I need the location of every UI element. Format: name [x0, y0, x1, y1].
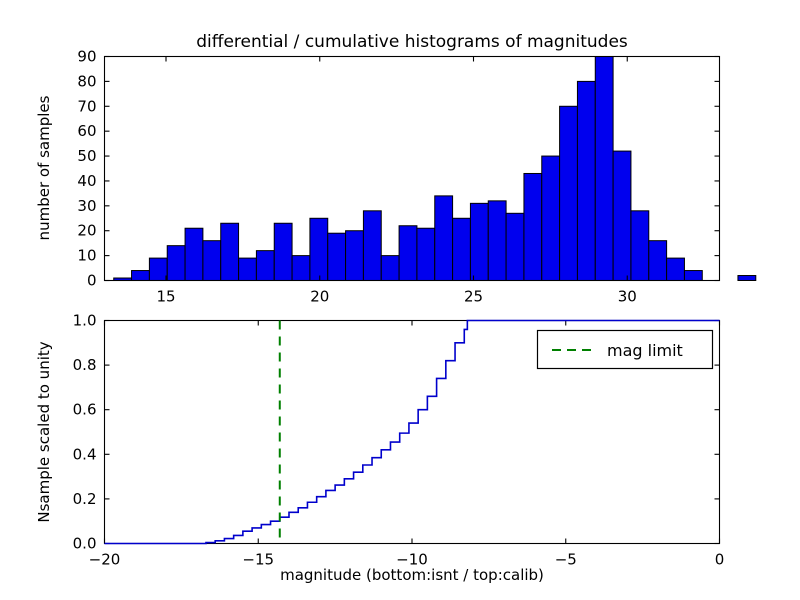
histogram-bar: [524, 173, 542, 280]
histogram-bar: [239, 258, 257, 280]
bottom-y-tick-label: 0.6: [73, 401, 97, 419]
page-title: differential / cumulative histograms of …: [196, 32, 628, 52]
top-x-tick-label: 25: [464, 288, 483, 306]
top-y-tick-label: 40: [77, 172, 96, 190]
histogram-bar: [684, 271, 702, 281]
top-x-tick-label: 30: [618, 288, 637, 306]
histogram-bar: [417, 228, 435, 280]
top-y-tick-label: 50: [77, 147, 96, 165]
histogram-bar: [560, 106, 578, 280]
histogram-bar: [435, 196, 453, 281]
histogram-bar: [256, 251, 274, 281]
histogram-bar: [167, 246, 185, 281]
histogram-bars: [114, 57, 756, 281]
histogram-bar: [613, 151, 631, 280]
bottom-y-tick-label: 0.8: [73, 356, 97, 374]
histogram-bar: [506, 213, 524, 280]
legend[interactable]: mag limit: [538, 331, 713, 369]
legend-entry-label: mag limit: [607, 341, 683, 360]
histogram-bar: [649, 241, 667, 281]
bottom-x-tick-label: 0: [715, 551, 725, 569]
histogram-bar: [203, 241, 221, 281]
histogram-bar: [346, 231, 364, 281]
top-y-tick-label: 0: [87, 272, 97, 290]
top-y-axis-label: number of samples: [35, 95, 53, 240]
histogram-bar: [274, 223, 292, 280]
histogram-bar: [292, 256, 310, 281]
bottom-y-tick-label: 0.2: [73, 490, 97, 508]
histogram-bar: [577, 81, 595, 280]
histogram-bar: [667, 258, 685, 280]
bottom-y-tick-label: 1.0: [73, 312, 97, 330]
top-y-tick-label: 60: [77, 122, 96, 140]
top-y-tick-label: 20: [77, 222, 96, 240]
bottom-y-tick-label: 0.4: [73, 445, 97, 463]
top-y-tick-label: 30: [77, 197, 96, 215]
bottom-x-tick-label: −15: [242, 551, 274, 569]
histogram-bar: [595, 57, 613, 281]
histogram-bar: [363, 211, 381, 281]
top-x-tick-label: 20: [310, 288, 329, 306]
histogram-bar: [328, 233, 346, 280]
histogram-bar: [185, 228, 203, 280]
top-x-tick-label: 15: [156, 288, 175, 306]
histogram-bar: [399, 226, 417, 281]
histogram-bar: [132, 271, 150, 281]
histogram-bar: [488, 201, 506, 281]
histogram-bar: [381, 256, 399, 281]
bottom-panel-cumulative: 0.00.20.40.60.81.0 −20−15−10−50 Nsample …: [35, 312, 724, 585]
histogram-bar: [453, 218, 471, 280]
bottom-x-axis-label: magnitude (bottom:isnt / top:calib): [280, 566, 544, 584]
top-y-tick-label: 80: [77, 72, 96, 90]
bottom-x-tick-label: −5: [555, 551, 577, 569]
histogram-bar: [631, 211, 649, 281]
top-panel-differential-histogram: differential / cumulative histograms of …: [35, 32, 756, 306]
bottom-x-tick-label: −20: [89, 551, 121, 569]
histogram-bar: [149, 258, 167, 280]
bottom-y-axis-label: Nsample scaled to unity: [35, 341, 53, 522]
matplotlib-figure: differential / cumulative histograms of …: [0, 0, 800, 600]
histogram-bar: [542, 156, 560, 280]
histogram-bar: [221, 223, 239, 280]
histogram-bar: [738, 276, 756, 281]
top-y-tick-label: 90: [77, 48, 96, 66]
figure-canvas: differential / cumulative histograms of …: [0, 0, 800, 600]
top-y-tick-label: 10: [77, 247, 96, 265]
histogram-bar: [470, 203, 488, 280]
histogram-bar: [310, 218, 328, 280]
top-y-tick-label: 70: [77, 97, 96, 115]
